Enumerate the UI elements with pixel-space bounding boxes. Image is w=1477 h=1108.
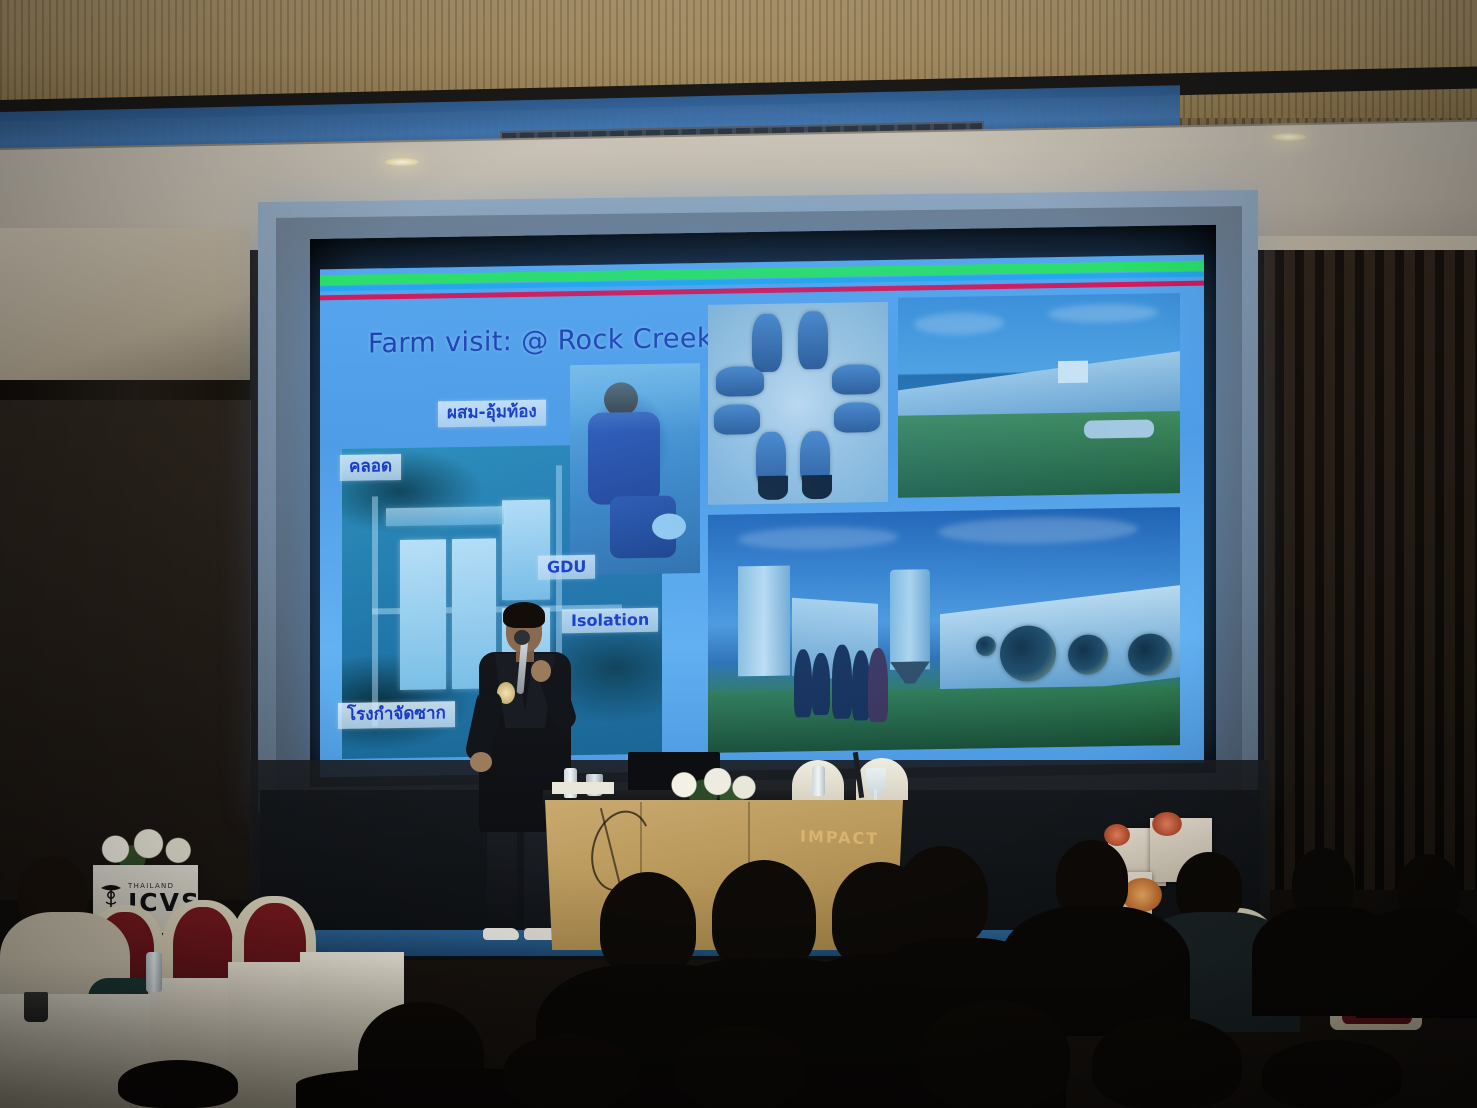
visitor — [794, 649, 812, 717]
barn-building — [386, 506, 504, 526]
shoe-cover — [716, 366, 764, 397]
audience-head — [676, 1026, 804, 1108]
barn-building — [502, 500, 550, 601]
photo-barn-exterior — [898, 293, 1180, 498]
visitor — [832, 645, 852, 719]
photo-barn-silo-group — [708, 507, 1180, 753]
audience-head — [600, 872, 696, 976]
shoe-cover — [832, 364, 880, 395]
presentation-slide: Farm visit: @ Rock Creek Farm Rock Creek… — [320, 255, 1204, 778]
wall-panel — [0, 400, 121, 900]
audience-head — [1262, 1040, 1402, 1108]
feed-silo — [890, 569, 930, 670]
coffee-cup — [24, 992, 48, 1022]
shoe-cover — [752, 314, 782, 372]
conference-presentation-photo: Farm visit: @ Rock Creek Farm Rock Creek… — [0, 0, 1477, 1108]
boot-cover — [652, 513, 686, 540]
water-bottle — [812, 766, 825, 796]
slide-label-carcass-disposal: โรงกำจัดซาก — [338, 701, 455, 728]
speaker-hand — [531, 660, 551, 682]
impact-venue-logo: IMPACT — [800, 827, 879, 849]
grass-strip — [708, 685, 1180, 753]
barn-entrance-tower — [738, 566, 790, 677]
barn-window — [1058, 361, 1088, 383]
audience-shoulders — [1356, 908, 1477, 1018]
speaker-leg — [487, 824, 517, 936]
shoe-cover — [798, 311, 828, 369]
audience-head — [118, 1060, 238, 1108]
cloud — [1048, 303, 1158, 323]
silo-cone — [890, 661, 930, 684]
sign-floral-decoration — [88, 826, 198, 868]
cloud — [914, 312, 1004, 335]
ceiling-downlight — [385, 158, 419, 166]
ribbon-bow — [1152, 812, 1182, 836]
slide-label-farrowing: คลอด — [340, 454, 401, 481]
wall-panel — [120, 400, 251, 900]
audience-head — [920, 1000, 1070, 1108]
audience-head — [504, 1034, 634, 1108]
dress-shoe — [802, 475, 832, 499]
lit-wall-left — [0, 228, 250, 398]
shoe-cover — [714, 404, 760, 435]
photo-highlight — [570, 363, 700, 433]
visitor — [812, 653, 830, 715]
chair-seatback — [173, 907, 233, 989]
slide-label-breeding-gestation: ผสม-อุ้มท้อง — [438, 400, 546, 427]
barn-building — [400, 539, 446, 690]
audience-head — [896, 846, 988, 946]
visitor — [868, 648, 888, 722]
ceiling-downlight — [1272, 133, 1306, 141]
cloud — [938, 516, 1138, 545]
photo-donning-boot-covers — [570, 363, 700, 575]
speaker-hand — [470, 752, 492, 772]
water-bottle — [146, 952, 162, 992]
microphone-capsule — [514, 630, 530, 645]
audience-head — [712, 860, 816, 972]
speaker-hair — [503, 602, 545, 628]
table-riser — [552, 782, 614, 794]
slide-label-isolation: Isolation — [562, 608, 658, 634]
equipment — [1084, 419, 1154, 438]
dress-shoe — [758, 476, 788, 500]
audience-head — [1092, 1016, 1242, 1108]
cloud — [738, 526, 898, 551]
photo-shoe-covers-circle — [708, 302, 888, 505]
speaker-shoe — [483, 928, 519, 940]
slide-label-gdu: GDU — [538, 555, 595, 580]
ribbon-bow — [1104, 824, 1130, 846]
shoe-cover — [834, 402, 880, 433]
